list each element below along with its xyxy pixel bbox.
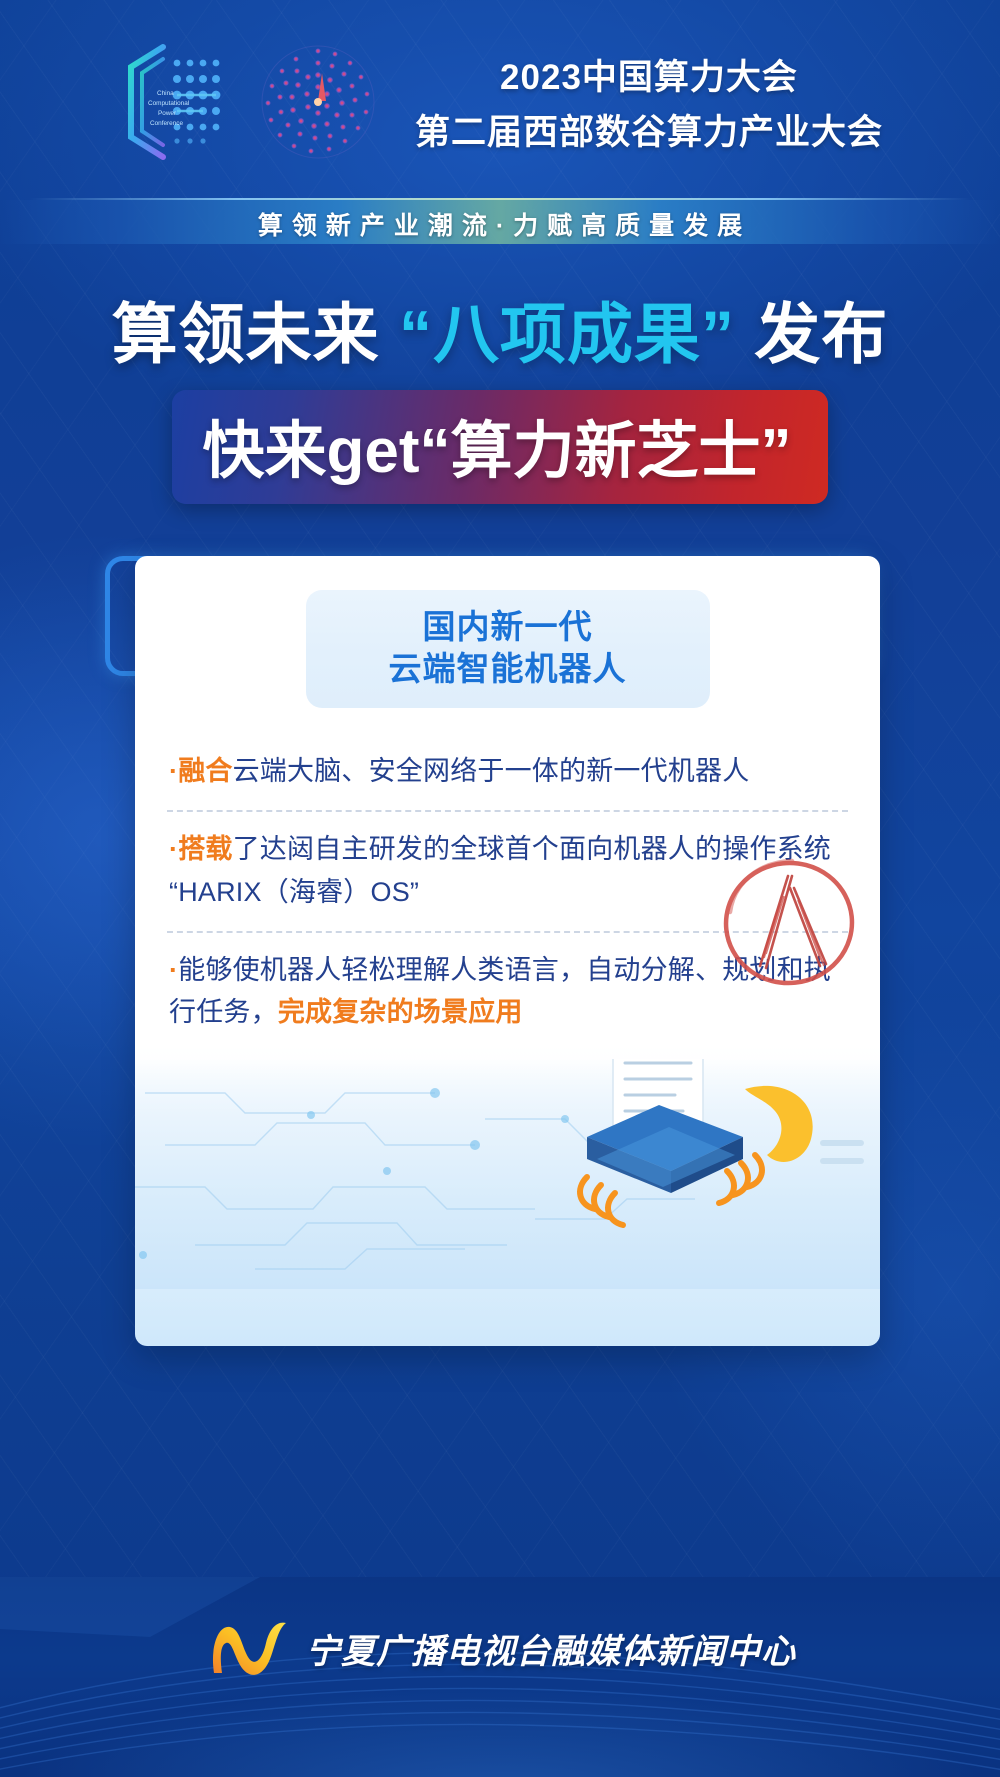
logo-caption-power: Power — [158, 110, 177, 117]
main-title-block: 算领未来 “八项成果” 发布 快来get“算力新芝士” — [0, 296, 1000, 504]
content-card-zone: 国内新一代 云端智能机器人 ·融合云端大脑、安全网络于一体的新一代机器人 ·搭载… — [105, 556, 895, 1346]
header-title-line-2: 第二届西部数谷算力产业大会 — [415, 104, 883, 155]
main-title-badge-row: 快来get“算力新芝士” — [40, 390, 960, 504]
main-title-badge-text: 快来get“算力新芝士” — [202, 417, 791, 486]
data-fan-logo — [253, 37, 383, 167]
card-bullet-item-2: ·搭载了达闼自主研发的全球首个面向机器人的操作系统“HARIX（海睿）OS” — [167, 810, 848, 930]
china-computational-power-conference-logo: China Computational Power Conference — [117, 39, 241, 165]
slogan-text: 算领新产业潮流·力赋高质量发展 — [0, 206, 1000, 242]
card-bullet-item-3: ·能够使机器人轻松理解人类语言，自动分解、规划和执行任务，完成复杂的场景应用 — [167, 931, 848, 1051]
yellow-accent-shape — [745, 1086, 813, 1162]
header-title-line-1: 2023中国算力大会 — [500, 49, 798, 100]
card-title-badge: 国内新一代 云端智能机器人 — [306, 590, 710, 708]
main-title-part-3: 发布 — [754, 297, 888, 371]
header-title-block: 2023中国算力大会 第二届西部数谷算力产业大会 — [415, 49, 883, 155]
bullet-highlight-1: 融合 — [178, 756, 232, 786]
footer-brand-bar: 宁夏广播电视台融媒体新闻中心 — [0, 1617, 1000, 1679]
main-title-part-1: 算领未来 — [112, 297, 380, 371]
slogan-band: 算领新产业潮流·力赋高质量发展 — [0, 192, 1000, 252]
bullet-text-1: 云端大脑、安全网络于一体的新一代机器人 — [233, 756, 750, 786]
bullet-marker-2: · — [169, 834, 178, 864]
footer-brand-text: 宁夏广播电视台融媒体新闻中心 — [306, 1624, 796, 1673]
poster-header: China Computational Power Conference — [0, 0, 1000, 196]
content-card: 国内新一代 云端智能机器人 ·融合云端大脑、安全网络于一体的新一代机器人 ·搭载… — [135, 556, 880, 1346]
server-base-icon — [587, 1105, 743, 1193]
bullet-highlight-3: 完成复杂的场景应用 — [278, 997, 523, 1027]
bullet-marker-1: · — [169, 756, 178, 786]
poster-footer: 宁夏广播电视台融媒体新闻中心 — [0, 1577, 1000, 1777]
card-title-line-2: 云端智能机器人 — [306, 648, 710, 690]
bullet-highlight-2: 搭载 — [178, 834, 232, 864]
main-title-part-2: “八项成果” — [399, 297, 735, 371]
data-server-illustration — [135, 1059, 880, 1289]
card-title-line-1: 国内新一代 — [306, 606, 710, 648]
logo-caption-computational: Computational — [148, 100, 189, 107]
card-bottom-illustration — [135, 1059, 880, 1289]
card-inner: 国内新一代 云端智能机器人 ·融合云端大脑、安全网络于一体的新一代机器人 ·搭载… — [135, 556, 880, 1051]
slogan-top-highlight-line — [30, 198, 970, 200]
logo-caption-china: China — [157, 90, 174, 97]
logo-caption-conference: Conference — [150, 120, 183, 127]
main-title-red-badge: 快来get“算力新芝士” — [172, 390, 827, 504]
card-bullet-list: ·融合云端大脑、安全网络于一体的新一代机器人 ·搭载了达闼自主研发的全球首个面向… — [167, 734, 848, 1051]
bullet-marker-3: · — [169, 955, 178, 985]
card-bullet-item-1: ·融合云端大脑、安全网络于一体的新一代机器人 — [167, 734, 848, 810]
bullet-text-2: 了达闼自主研发的全球首个面向机器人的操作系统“HARIX（海睿）OS” — [169, 834, 831, 906]
poster-root: China Computational Power Conference — [0, 0, 1000, 1777]
nxtv-n-logo — [204, 1617, 292, 1679]
main-title-line-1: 算领未来 “八项成果” 发布 — [40, 296, 960, 374]
